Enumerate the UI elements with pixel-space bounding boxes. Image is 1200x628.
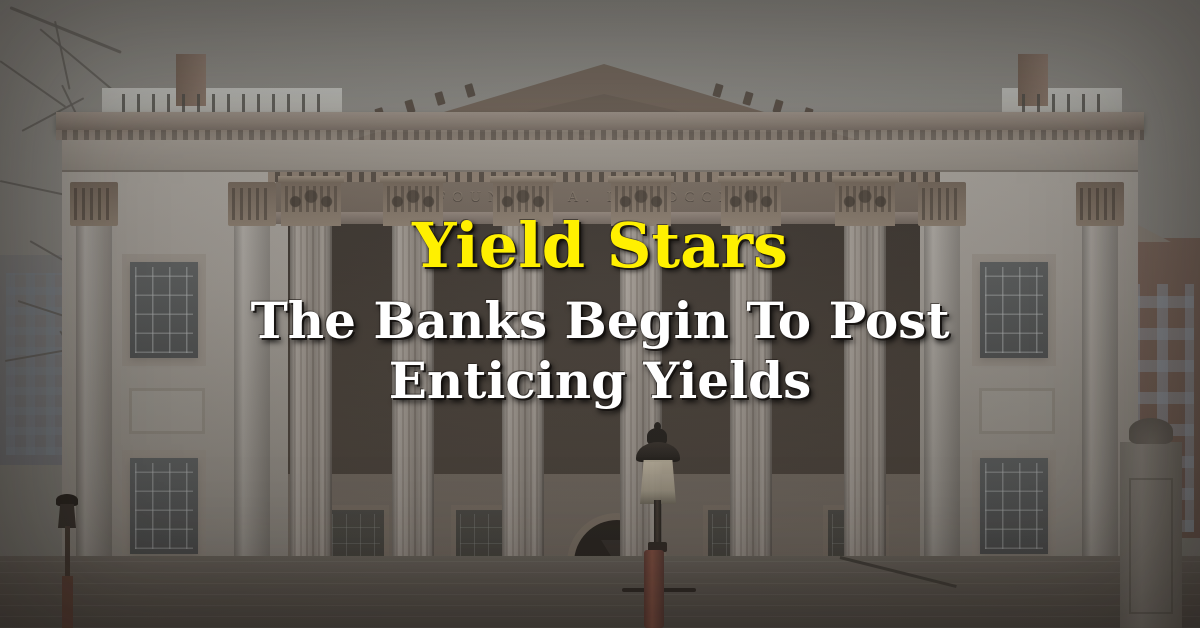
architrave <box>62 140 1138 172</box>
lamp-post-center <box>634 424 680 628</box>
lamp-glass <box>640 460 676 504</box>
corinthian-capital <box>281 176 341 226</box>
corinthian-capital <box>835 176 895 226</box>
corinthian-capital <box>493 176 553 226</box>
lamp-glass <box>58 504 76 528</box>
lamp-hood <box>636 442 680 462</box>
lamp-pole-lower <box>62 576 73 628</box>
pilaster-capital <box>918 182 966 226</box>
gatepost-urn <box>1129 418 1173 444</box>
corinthian-capital <box>383 176 443 226</box>
corinthian-capital <box>611 176 671 226</box>
entrance-steps <box>0 556 1200 628</box>
pilaster-capital <box>70 182 118 226</box>
lamp-pole-lower <box>644 550 664 628</box>
first-bank-building: FOUNDED A. D. MDCCXCV <box>62 72 1138 628</box>
frieze: FOUNDED A. D. MDCCXCV <box>276 182 932 212</box>
wing-panel-right <box>979 388 1055 434</box>
pilaster-capital <box>228 182 276 226</box>
wing-window-right-1 <box>980 262 1048 358</box>
hero-image: FOUNDED A. D. MDCCXCV <box>0 0 1200 628</box>
pilaster-capital <box>1076 182 1124 226</box>
wing-window-left-2 <box>130 458 198 554</box>
gatepost-panel <box>1129 478 1173 614</box>
cornice-dentils <box>56 130 1144 140</box>
lamp-post-left <box>56 490 78 628</box>
wing-panel-left <box>129 388 205 434</box>
wing-window-left-1 <box>130 262 198 358</box>
chimney-right <box>1018 54 1048 106</box>
wing-window-right-2 <box>980 458 1048 554</box>
cornice <box>56 112 1144 132</box>
chimney-left <box>176 54 206 106</box>
stone-gatepost <box>1120 442 1182 628</box>
corinthian-capital <box>721 176 781 226</box>
